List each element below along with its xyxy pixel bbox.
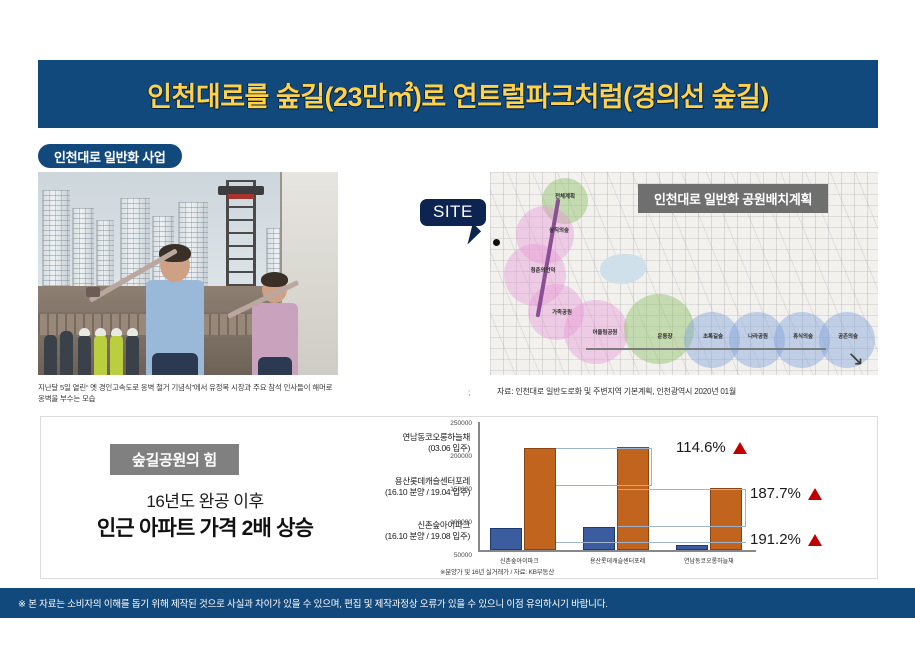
bar-bunyangga-1 (490, 528, 522, 550)
panel-headline-1: 16년도 완공 이후 (70, 487, 340, 512)
crowd-figure (44, 335, 57, 375)
x-label-1: 용산롯데캐슬센터포레 (590, 556, 645, 565)
caption-separator: ; (468, 388, 470, 397)
photo-caption: 지난달 5일 열린“ 옛 경인고속도로 옹벽 철거 기념식”에서 유정복 시장과… (38, 382, 338, 405)
map-green-corridor (586, 348, 826, 350)
footer-disclaimer-bar: ※ 본 자료는 소비자의 이해를 돕기 위해 제작된 것으로 사실과 차이가 있… (0, 588, 915, 618)
up-triangle-icon (808, 488, 822, 500)
panel-headline-2: 인근 아파트 가격 2배 상승 (50, 512, 360, 542)
apartment-tower (72, 208, 94, 290)
y-tick: 250000 (450, 420, 472, 427)
chart-source-note: ※분양가 및 16년 실거래가 / 자료: KB부동산 (440, 566, 840, 576)
annotation-187-value: 187.7% (750, 485, 801, 502)
second-figure (246, 270, 306, 375)
map-source-caption: 자료: 인천대로 일반도로화 및 주변지역 기본계획, 인천광역시 2020년 … (497, 386, 877, 397)
up-triangle-icon (808, 534, 822, 546)
map-direction-arrow: ↘ (847, 346, 864, 371)
second-figure-hair (261, 272, 288, 287)
bar-bunyangga-2 (583, 527, 615, 550)
main-figure-trousers (152, 353, 198, 375)
annotation-191: 191.2% (750, 531, 822, 548)
second-figure-trousers (258, 357, 292, 375)
annotation-leader-2 (618, 489, 746, 527)
y-tick: 50000 (454, 552, 472, 559)
sledgehammer-head (86, 287, 100, 297)
chart-axis-horizontal (478, 550, 756, 552)
y-tick: 150000 (450, 486, 472, 493)
x-label-0: 신촌숲아이파크 (500, 556, 539, 565)
bar-silgeoraega-1 (524, 448, 556, 550)
chart-axis-vertical (478, 422, 480, 552)
map-zone-label: 가족공원 (534, 310, 590, 317)
park-layout-map: 인천대로 일반화 공원배치계획 ↘ 전체계획 삼직의숲 청춘의언덕 가족공원 어… (490, 172, 878, 375)
annotation-114: 114.6% (676, 439, 747, 456)
footer-disclaimer-text: ※ 본 자료는 소비자의 이해를 돕기 위해 제작된 것으로 사실과 차이가 있… (18, 596, 608, 610)
slide-title-bar: 인천대로를 숲길(23만㎡)로 연트럴파크처럼(경의선 숲길) (38, 60, 878, 128)
map-zone-label: 어울림공원 (574, 330, 636, 337)
annotation-191-value: 191.2% (750, 531, 801, 548)
map-zone-label: 운동장 (636, 334, 694, 341)
annotation-leader-3 (556, 542, 746, 543)
page-title: 인천대로를 숲길(23만㎡)로 연트럴파크처럼(경의선 숲길) (147, 75, 769, 114)
crowd-figure (110, 335, 123, 375)
section-label-pill: 인천대로 일반화 사업 (38, 144, 182, 168)
y-tick: 100000 (450, 519, 472, 526)
crowd-figure (94, 335, 107, 375)
annotation-187: 187.7% (750, 485, 822, 502)
apartment-tower (42, 190, 70, 290)
site-callout-label: SITE (420, 199, 486, 226)
up-triangle-icon (733, 442, 747, 454)
map-zone-label: 전체계획 (540, 194, 590, 201)
power-pill-label: 숲길공원의 힘 (110, 444, 239, 475)
annotation-114-value: 114.6% (676, 439, 726, 456)
main-figure (138, 240, 212, 375)
map-zone-green (624, 294, 694, 364)
map-zone-label: 공존의숲 (823, 334, 873, 341)
chart-y-axis: 250000 200000 150000 100000 50000 (418, 420, 474, 560)
y-tick: 200000 (450, 453, 472, 460)
site-callout-tail (467, 223, 482, 247)
apartment-tower (96, 220, 114, 290)
x-label-2: 연남동코오롱하늘채 (684, 556, 734, 565)
map-zone-label: 휴식의숲 (778, 334, 828, 341)
map-zone-label: 초록길숲 (688, 334, 738, 341)
crane-counterweight (228, 194, 254, 199)
crowd-figure (78, 335, 91, 375)
map-banner-title: 인천대로 일반화 공원배치계획 (638, 184, 828, 213)
crowd-figure (60, 331, 73, 375)
demolition-ceremony-photo (38, 172, 338, 375)
map-zone-label: 나라공원 (733, 334, 783, 341)
site-marker-dot (493, 239, 500, 246)
map-zone-label: 삼직의숲 (530, 228, 588, 235)
annotation-leader-1 (556, 448, 652, 486)
map-zone-label: 청춘의언덕 (512, 268, 574, 275)
bar-bunyangga-3 (676, 545, 708, 550)
